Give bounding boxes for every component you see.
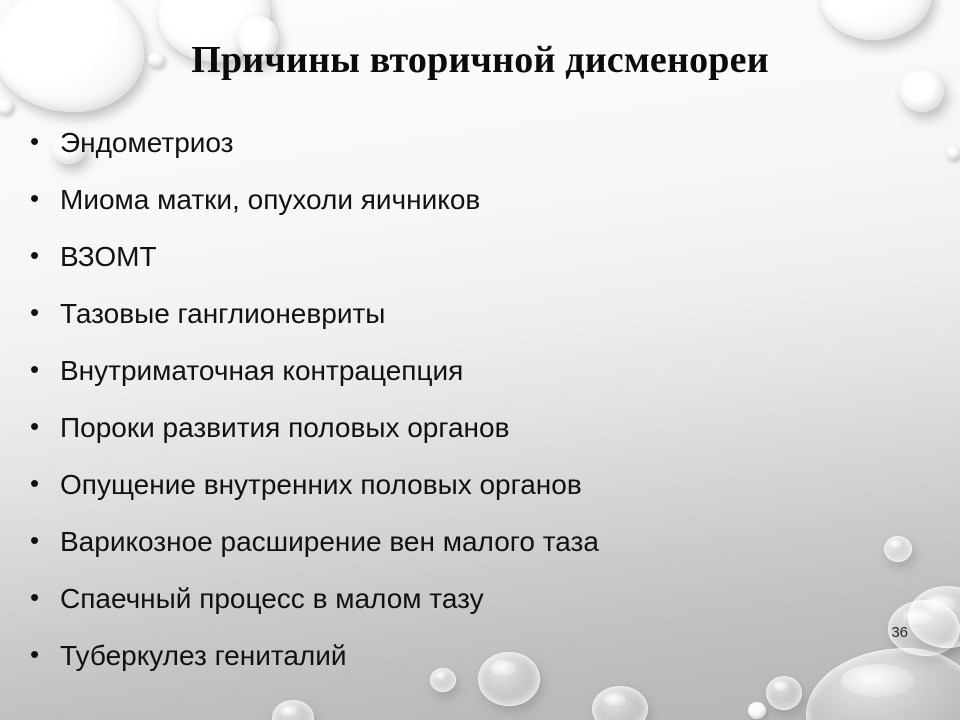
list-item-label: Варикозное расширение вен малого таза [60,525,910,559]
list-item-label: Внутриматочная контрацепция [60,354,910,388]
list-item: • Миома матки, опухоли яичников [30,183,910,240]
bullet-icon: • [30,242,60,268]
droplet-glass-bottom-left [272,700,314,720]
list-item: • ВЗОМТ [30,240,910,297]
bullet-icon: • [30,413,60,439]
list-item: • Тазовые ганглионевриты [30,297,910,354]
bullet-list: • Эндометриоз • Миома матки, опухоли яич… [30,126,910,696]
list-item: • Туберкулез гениталий [30,639,910,696]
bullet-icon: • [30,299,60,325]
droplet-bead-bottomright [748,702,766,719]
droplet-bead-topright [946,146,960,159]
slide-number: 36 [891,624,908,641]
bullet-icon: • [30,185,60,211]
presentation-slide: Причины вторичной дисменореи • Эндометри… [0,0,960,720]
bullet-icon: • [30,128,60,154]
list-item-label: ВЗОМТ [60,240,910,274]
slide-title: Причины вторичной дисменореи [0,36,960,84]
list-item-label: Тазовые ганглионевриты [60,297,910,331]
list-item-label: Туберкулез гениталий [60,639,910,673]
list-item-label: Эндометриоз [60,126,910,160]
list-item-label: Спаечный процесс в малом тазу [60,582,910,616]
list-item: • Эндометриоз [30,126,910,183]
list-item: • Спаечный процесс в малом тазу [30,582,910,639]
list-item: • Опущение внутренних половых органов [30,468,910,525]
list-item-label: Опущение внутренних половых органов [60,468,910,502]
droplet-bead-left-edge [0,98,13,114]
droplet-large-topright [820,0,932,40]
list-item-label: Пороки развития половых органов [60,411,910,445]
list-item: • Внутриматочная контрацепция [30,354,910,411]
list-item: • Пороки развития половых органов [30,411,910,468]
bullet-icon: • [30,356,60,382]
list-item-label: Миома матки, опухоли яичников [60,183,910,217]
droplet-glass-bottomright-top [908,586,960,648]
bullet-icon: • [30,470,60,496]
bullet-icon: • [30,584,60,610]
bullet-icon: • [30,527,60,553]
bullet-icon: • [30,641,60,667]
list-item: • Варикозное расширение вен малого таза [30,525,910,582]
